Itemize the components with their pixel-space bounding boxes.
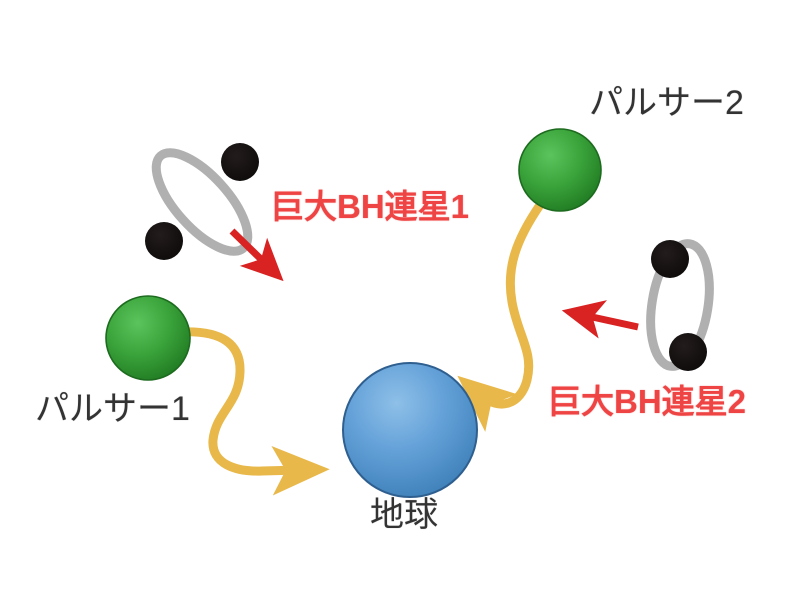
bh-binary-2-hole-b [669, 333, 707, 371]
bh-binary-2-hole-a [651, 240, 689, 278]
earth-sphere [343, 363, 477, 497]
bh-binary-2 [643, 239, 718, 371]
diagram-canvas: パルサー1 パルサー2 地球 巨大BH連星1 巨大BH連星2 [0, 0, 800, 600]
red-arrow-to-bh-binary-2 [583, 315, 638, 327]
label-earth: 地球 [370, 498, 438, 532]
pulsar-1-sphere [106, 296, 190, 380]
label-pulsar-2: パルサー2 [589, 86, 744, 120]
gravitational-wave-path-pulsar2-to-earth [480, 205, 540, 404]
label-pulsar-1: パルサー1 [35, 392, 190, 426]
label-bh-binary-1: 巨大BH連星1 [271, 190, 469, 223]
bh-binary-1-hole-b [145, 222, 183, 260]
bh-binary-1-hole-a [221, 143, 259, 181]
label-bh-binary-2: 巨大BH連星2 [548, 385, 746, 418]
pulsar-2-sphere [519, 129, 601, 211]
gravitational-wave-path-pulsar1-to-earth [180, 332, 300, 471]
